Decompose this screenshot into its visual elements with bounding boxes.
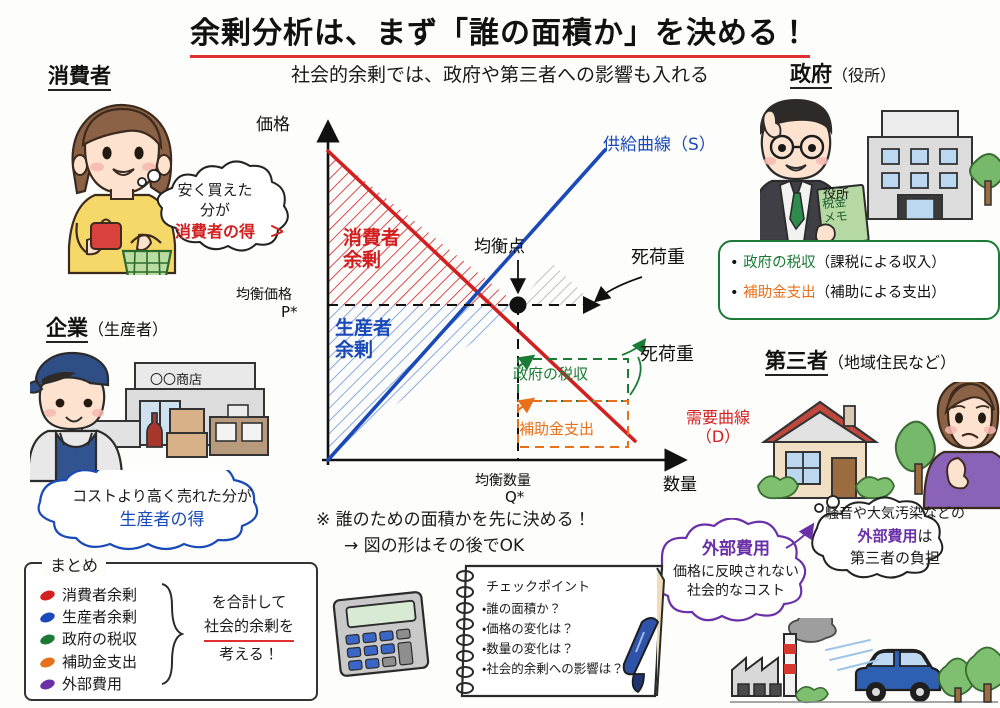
summary-title: まとめ	[42, 552, 106, 576]
third-party-bubble-line2-key: 外部費用	[857, 527, 917, 545]
checklist-item-2: ・数量の変化は？	[482, 639, 652, 659]
government-point-2-rest: （補助による支出）	[816, 285, 946, 301]
producer-heading: 企業（生産者）	[46, 312, 168, 342]
title-block: 余剰分析は、まず「誰の面積か」を決める！	[0, 8, 1000, 58]
third-party-bubble-line2-rest: は	[918, 527, 933, 545]
tax-memo-card-text: 税金 メモ	[822, 196, 849, 226]
summary-item-3: 補助金支出	[40, 651, 137, 673]
government-heading: 政府（役所）	[790, 58, 896, 88]
summary-dot-0	[39, 589, 56, 603]
equilibrium-price-label: 均衡価格	[236, 284, 292, 304]
government-point-1: • 政府の税収（課税による収入）	[730, 251, 998, 272]
summary-label-3: 補助金支出	[62, 653, 137, 671]
third-party-heading-sub: （地域住民など）	[828, 353, 956, 372]
summary-label-2: 政府の税収	[62, 630, 137, 648]
consumer-heading: 消費者	[48, 60, 111, 90]
equilibrium-price-symbol: P*	[281, 303, 298, 321]
government-points-box: • 政府の税収（課税による収入） • 補助金支出（補助による支出）	[718, 240, 1000, 320]
subsidy-label: 補助金支出	[519, 418, 594, 439]
summary-dot-1	[39, 611, 56, 625]
summary-box: まとめ 消費者余剰 生産者余剰 政府の税収 補助金支出 外部費用 を合計して 社…	[24, 562, 318, 701]
summary-label-1: 生産者余剰	[62, 608, 137, 626]
summary-conclusion-line1: を合計して	[192, 590, 306, 614]
tax-revenue-label: 政府の税収	[513, 363, 588, 384]
summary-item-1: 生産者余剰	[40, 606, 137, 628]
government-heading-sub: （役所）	[832, 66, 896, 85]
summary-conclusion-line3: 考える！	[192, 642, 306, 666]
demand-curve-line1: 需要曲線	[686, 408, 750, 427]
checklist-title: チェックポイント	[486, 578, 652, 599]
shop-sign-label: 〇〇商店	[150, 369, 202, 388]
summary-label-0: 消費者余剰	[62, 586, 137, 604]
summary-dot-3	[39, 655, 56, 669]
cs-line2: 余剰	[343, 250, 400, 272]
x-axis-label: 数量	[663, 470, 697, 495]
note-block: ※ 誰のための面積かを先に決める！ → 図の形はその後でOK	[316, 508, 591, 559]
calculator-illustration	[325, 586, 445, 681]
page-title: 余剰分析は、まず「誰の面積か」を決める！	[190, 8, 810, 58]
external-cost-line1: 価格に反映されない	[640, 563, 832, 582]
surplus-chart	[250, 105, 720, 495]
pollution-illustration	[730, 618, 1000, 708]
checklist-item-3: ・社会的余剰への影響は？	[482, 659, 652, 679]
government-point-1-rest: （課税による収入）	[816, 255, 946, 271]
brace-icon	[158, 582, 184, 686]
note-line2: → 図の形はその後でOK	[344, 534, 591, 560]
third-party-heading: 第三者（地域住民など）	[765, 345, 956, 375]
deadweight-label-upper: 死荷重	[631, 243, 685, 269]
supply-curve-label: 供給曲線（S）	[603, 130, 716, 155]
external-cost-title: 外部費用	[640, 538, 832, 561]
equilibrium-point-label: 均衡点	[474, 232, 525, 257]
external-cost-line2: 社会的なコスト	[640, 582, 832, 601]
summary-item-4: 外部費用	[40, 673, 137, 695]
deadweight-label-lower: 死荷重	[640, 340, 694, 366]
y-axis-label: 価格	[256, 110, 290, 135]
producer-bubble-line2: 生産者の得	[28, 509, 296, 532]
checklist-item-1: ・価格の変化は？	[482, 619, 652, 639]
government-heading-text: 政府	[790, 62, 832, 89]
summary-item-2: 政府の税収	[40, 628, 137, 650]
demand-curve-label: 需要曲線 （D）	[686, 408, 750, 446]
producer-heading-text: 企業	[46, 316, 88, 343]
government-illustration	[760, 95, 1000, 245]
consumer-surplus-region-label: 消費者余剰 消費者 余剰	[343, 228, 400, 272]
equilibrium-quantity-symbol: Q*	[505, 488, 524, 506]
demand-curve-line2: （D）	[686, 427, 750, 446]
ps-line1: 生産者	[335, 318, 392, 340]
consumer-heading-text: 消費者	[48, 64, 111, 91]
external-cost-bubble-text: 外部費用 価格に反映されない 社会的なコスト	[640, 538, 832, 601]
summary-dot-2	[39, 633, 56, 647]
summary-item-0: 消費者余剰	[40, 584, 137, 606]
checklist-notepad: チェックポイント ・誰の面積か？ ・価格の変化は？ ・数量の変化は？ ・社会的余…	[452, 560, 667, 700]
equilibrium-quantity-label: 均衡数量	[475, 470, 531, 490]
government-point-1-key: 政府の税収	[743, 255, 816, 271]
producer-surplus-region-label: 生産者 余剰	[335, 318, 392, 362]
checklist-item-0: ・誰の面積か？	[482, 599, 652, 619]
cs-line1: 消費者	[343, 228, 400, 250]
summary-dot-4	[39, 677, 56, 691]
note-line1: ※ 誰のための面積かを先に決める！	[316, 508, 591, 534]
government-point-2: • 補助金支出（補助による支出）	[730, 281, 998, 302]
ps-line2: 余剰	[335, 340, 392, 362]
producer-heading-sub: （生産者）	[88, 320, 168, 339]
third-party-heading-text: 第三者	[765, 349, 828, 376]
government-point-2-key: 補助金支出	[743, 285, 816, 301]
tax-memo-line2: メモ	[823, 210, 848, 226]
summary-conclusion-line2: 社会的余剰を	[204, 614, 294, 641]
summary-label-4: 外部費用	[62, 675, 122, 693]
